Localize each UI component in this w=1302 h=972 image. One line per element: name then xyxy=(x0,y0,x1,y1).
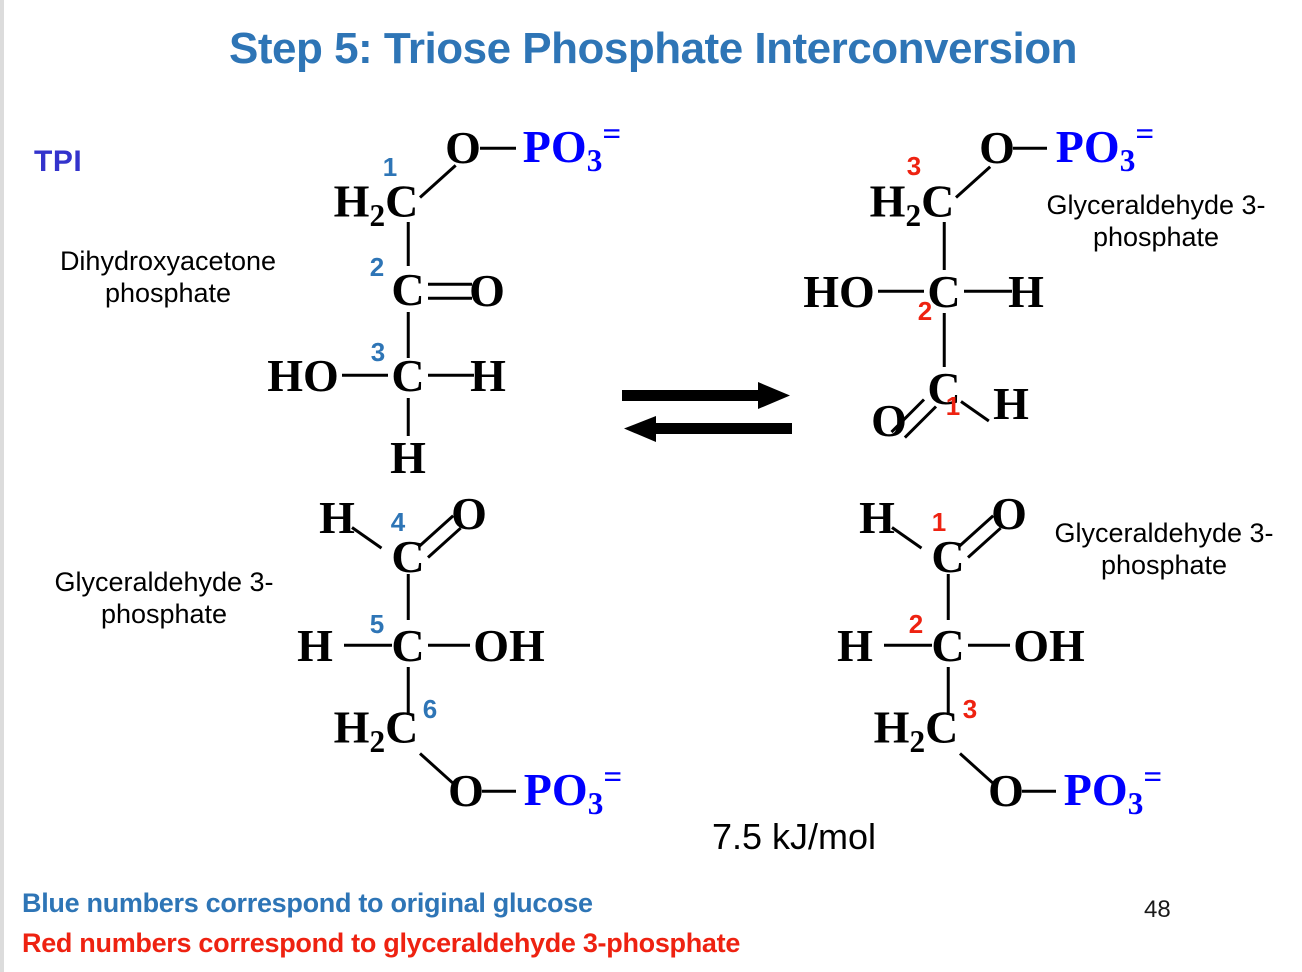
locant-c1: 1 xyxy=(932,509,946,535)
atom-c2: C xyxy=(931,623,964,669)
locant-c2: 2 xyxy=(909,611,923,637)
slide-number: 48 xyxy=(1144,896,1171,924)
reaction-energy-value: 7.5 kJ/mol xyxy=(634,816,954,858)
atom-h-left: H xyxy=(837,623,873,669)
bond-o-p xyxy=(1022,790,1056,793)
bond-h-c2 xyxy=(884,644,932,647)
bond-c2-oh xyxy=(968,644,1010,647)
atom-h2c: H2C xyxy=(874,705,959,758)
atom-o-aldehyde: O xyxy=(991,491,1027,537)
atom-h-top: H xyxy=(859,495,895,541)
legend-red-numbers: Red numbers correspond to glyceraldehyde… xyxy=(22,928,740,959)
slide-canvas: Step 5: Triose Phosphate Interconversion… xyxy=(0,0,1302,972)
legend-blue-numbers: Blue numbers correspond to original gluc… xyxy=(22,888,593,919)
atom-o-ester: O xyxy=(988,768,1024,814)
locant-c3: 3 xyxy=(963,696,977,722)
atom-phosphate: PO3= xyxy=(1064,761,1162,820)
atom-oh: OH xyxy=(1013,623,1085,669)
atom-c1: C xyxy=(931,534,964,580)
bond-h-c1 xyxy=(891,526,922,549)
